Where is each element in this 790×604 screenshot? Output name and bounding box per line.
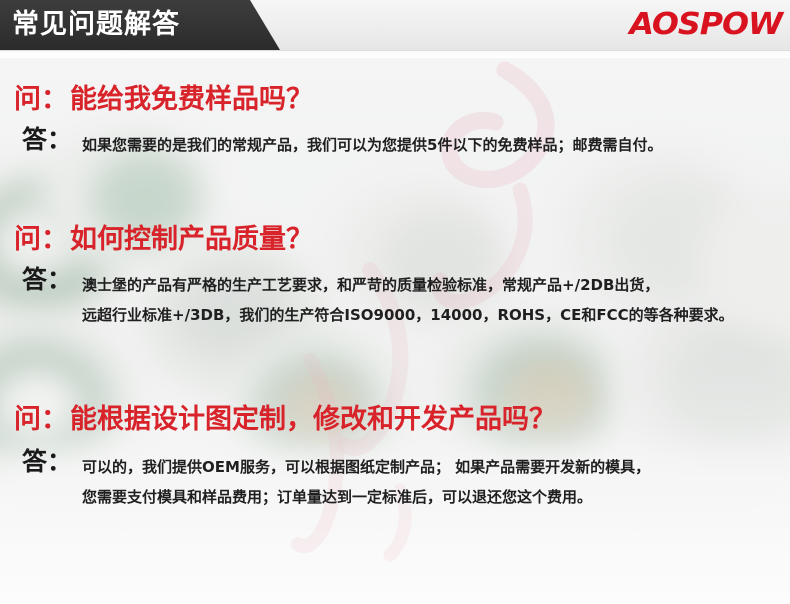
answer-lines: 澳士堡的产品有严格的生产工艺要求，和严苛的质量检验标准，常规产品+/2DB出货，… [82, 265, 734, 330]
answer-marker: 答： [22, 447, 72, 477]
faq-answer-2: 答： 澳士堡的产品有严格的生产工艺要求，和严苛的质量检验标准，常规产品+/2DB… [22, 265, 734, 330]
question-marker: 问： [14, 226, 68, 253]
brand-logo: AOSPOW [638, 10, 782, 40]
faq-answer-1: 答： 如果您需要的是我们的常规产品，我们可以为您提供5件以下的免费样品；邮费需自… [22, 125, 662, 160]
faq-page: 常见问题解答 AOSPOW 问： 能给我免费样品吗？ 答： 如果您需要的是我们的… [0, 0, 790, 604]
answer-line: 您需要支付模具和样品费用；订单量达到一定标准后，可以退还您这个费用。 [82, 482, 650, 512]
header-divider-shadow [0, 51, 790, 58]
answer-line: 远超行业标准+/3DB，我们的生产符合ISO9000，14000，ROHS，CE… [82, 300, 734, 330]
faq-question-1: 问： 能给我免费样品吗？ [14, 86, 662, 113]
answer-line: 澳士堡的产品有严格的生产工艺要求，和严苛的质量检验标准，常规产品+/2DB出货， [82, 270, 734, 300]
page-header: 常见问题解答 AOSPOW [0, 0, 790, 58]
question-text: 能根据设计图定制，修改和开发产品吗？ [70, 406, 556, 433]
brand-logo-text: AOSPOW [629, 10, 782, 40]
page-title: 常见问题解答 [12, 4, 180, 46]
question-text: 如何控制产品质量？ [70, 226, 313, 253]
answer-line: 如果您需要的是我们的常规产品，我们可以为您提供5件以下的免费样品；邮费需自付。 [82, 130, 662, 160]
answer-marker: 答： [22, 265, 72, 295]
question-marker: 问： [14, 406, 68, 433]
faq-question-3: 问： 能根据设计图定制，修改和开发产品吗？ [14, 406, 650, 433]
faq-answer-3: 答： 可以的，我们提供OEM服务，可以根据图纸定制产品； 如果产品需要开发新的模… [22, 447, 650, 512]
faq-item-1: 问： 能给我免费样品吗？ 答： 如果您需要的是我们的常规产品，我们可以为您提供5… [14, 86, 662, 160]
faq-item-2: 问： 如何控制产品质量？ 答： 澳士堡的产品有严格的生产工艺要求，和严苛的质量检… [14, 226, 734, 330]
faq-item-3: 问： 能根据设计图定制，修改和开发产品吗？ 答： 可以的，我们提供OEM服务，可… [14, 406, 650, 512]
answer-marker: 答： [22, 125, 72, 155]
question-text: 能给我免费样品吗？ [70, 86, 313, 113]
answer-line: 可以的，我们提供OEM服务，可以根据图纸定制产品； 如果产品需要开发新的模具， [82, 452, 650, 482]
question-marker: 问： [14, 86, 68, 113]
answer-lines: 可以的，我们提供OEM服务，可以根据图纸定制产品； 如果产品需要开发新的模具， … [82, 447, 650, 512]
answer-lines: 如果您需要的是我们的常规产品，我们可以为您提供5件以下的免费样品；邮费需自付。 [82, 125, 662, 160]
faq-question-2: 问： 如何控制产品质量？ [14, 226, 734, 253]
